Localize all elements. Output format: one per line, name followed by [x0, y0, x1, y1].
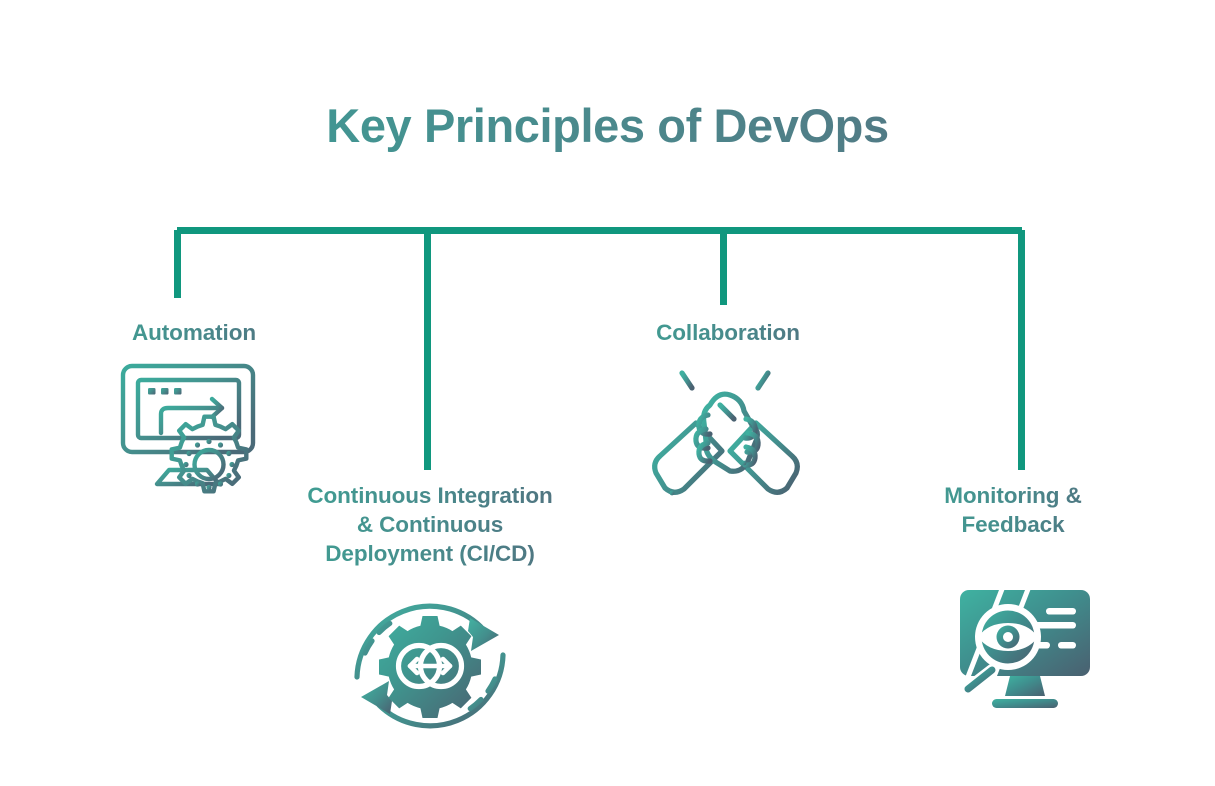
branch-label-monitoring-line-2: Feedback: [913, 510, 1113, 539]
branch-label-monitoring-line-1: Monitoring &: [913, 481, 1113, 510]
impact-line-left: [682, 373, 692, 388]
impact-line-right: [758, 373, 768, 388]
branch-label-cicd-line-2: & Continuous: [289, 510, 571, 539]
branch-label-cicd-line-1: Continuous Integration: [289, 481, 571, 510]
right-forearm: [730, 423, 797, 492]
eye-pupil: [1003, 632, 1013, 642]
handshake-icon: [648, 365, 804, 511]
monitor-gear-icon: [112, 358, 272, 500]
monitor-stand-base: [992, 699, 1058, 708]
monitor-stand-neck: [1005, 676, 1045, 696]
monitor-eye-search-icon: [952, 586, 1098, 714]
branch-label-cicd: Continuous Integration & Continuous Depl…: [289, 481, 571, 568]
branch-label-monitoring: Monitoring & Feedback: [913, 481, 1113, 539]
page-title: Key Principles of DevOps: [0, 98, 1215, 153]
branch-label-automation: Automation: [94, 318, 294, 347]
branch-label-cicd-line-3: Deployment (CI/CD): [289, 539, 571, 568]
cycle-arrowhead-right: [468, 618, 499, 651]
cycle-gear-icon: [339, 585, 521, 747]
infographic-canvas: Key Principles of DevOps Automation Cont…: [0, 0, 1215, 786]
branch-label-collaboration: Collaboration: [628, 318, 828, 347]
cycle-arrowhead-left: [361, 681, 392, 714]
